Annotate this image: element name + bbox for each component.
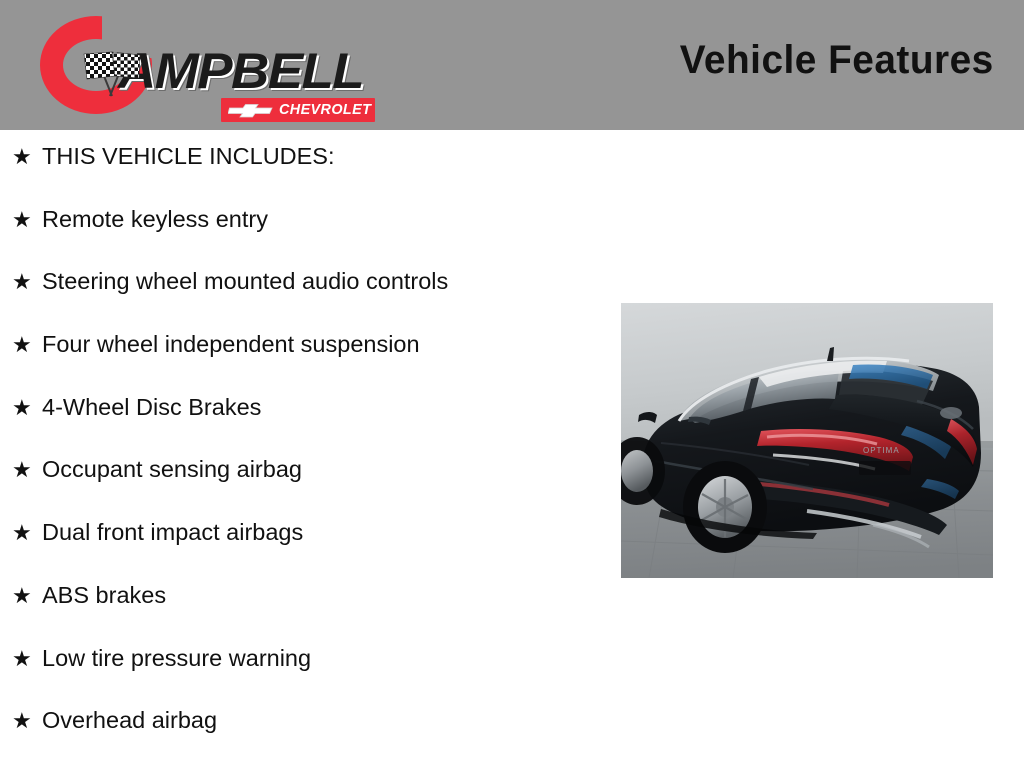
vehicle-features-page: AMPBELL (0, 0, 1024, 768)
checkered-flags-icon (82, 50, 148, 98)
list-item: ★ ABS brakes (12, 584, 612, 647)
list-item: ★ Remote keyless entry (12, 208, 612, 271)
svg-text:OPTIMA: OPTIMA (863, 446, 900, 455)
star-bullet-icon: ★ (12, 585, 42, 607)
page-title: Vehicle Features (680, 40, 994, 80)
feature-label: Overhead airbag (42, 709, 217, 733)
star-bullet-icon: ★ (12, 397, 42, 419)
star-bullet-icon: ★ (12, 209, 42, 231)
dealer-logo: AMPBELL (36, 10, 386, 122)
feature-label: Steering wheel mounted audio controls (42, 270, 448, 294)
feature-label: ABS brakes (42, 584, 166, 608)
list-item: ★ Four wheel independent suspension (12, 333, 612, 396)
chevrolet-bowtie-icon (228, 103, 274, 118)
vehicle-photo: OPTIMA (621, 303, 993, 578)
feature-label: Low tire pressure warning (42, 647, 311, 671)
star-bullet-icon: ★ (12, 648, 42, 670)
star-bullet-icon: ★ (12, 271, 42, 293)
star-bullet-icon: ★ (12, 522, 42, 544)
features-list: ★ THIS VEHICLE INCLUDES: ★ Remote keyles… (12, 145, 612, 768)
star-bullet-icon: ★ (12, 146, 42, 168)
chevrolet-badge: CHEVROLET (221, 98, 375, 122)
feature-label: THIS VEHICLE INCLUDES: (42, 145, 335, 169)
star-bullet-icon: ★ (12, 459, 42, 481)
feature-label: Four wheel independent suspension (42, 333, 420, 357)
feature-label: Remote keyless entry (42, 208, 268, 232)
list-item: ★ 4-Wheel Disc Brakes (12, 396, 612, 459)
star-bullet-icon: ★ (12, 334, 42, 356)
header-band: AMPBELL (0, 0, 1024, 130)
list-item: ★ Dual front impact airbags (12, 521, 612, 584)
feature-label: Occupant sensing airbag (42, 458, 302, 482)
chevrolet-label: CHEVROLET (279, 102, 371, 117)
dealer-wordmark: AMPBELL (118, 46, 363, 96)
feature-label: 4-Wheel Disc Brakes (42, 396, 261, 420)
feature-label: Dual front impact airbags (42, 521, 303, 545)
list-item: ★ THIS VEHICLE INCLUDES: (12, 145, 612, 208)
list-item: ★ Low tire pressure warning (12, 647, 612, 710)
list-item: ★ Occupant sensing airbag (12, 458, 612, 521)
star-bullet-icon: ★ (12, 710, 42, 732)
list-item: ★ Overhead airbag (12, 709, 612, 768)
list-item: ★ Steering wheel mounted audio controls (12, 270, 612, 333)
